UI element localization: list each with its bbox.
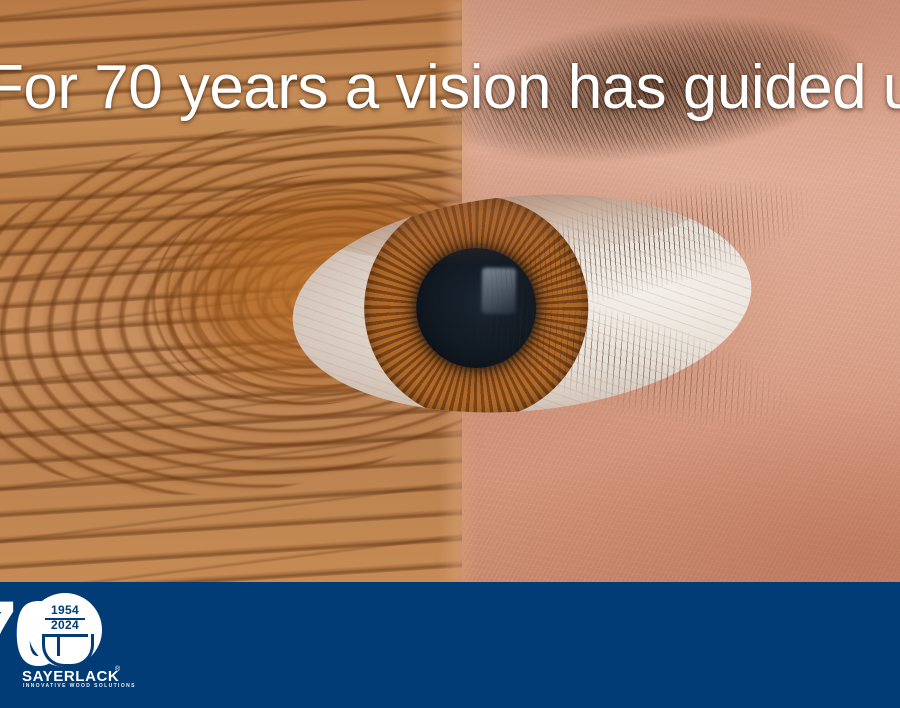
emblem-year-to: 2024 [28, 619, 102, 632]
emblem-year-from: 1954 [28, 604, 102, 617]
sayerlack-circle-emblem-icon: 1954 2024 [28, 593, 102, 667]
hero-image-wood-eye-composite: For 70 years a vision has guided us [0, 0, 900, 582]
sayerlack-anniversary-banner: For 70 years a vision has guided us 70 1… [0, 0, 900, 708]
emblem-mark-stem [57, 634, 60, 656]
headline-text: For 70 years a vision has guided us [0, 48, 900, 128]
headline-container: For 70 years a vision has guided us [0, 48, 900, 128]
sayerlack-logo[interactable]: 70 1954 2024 SAYERLACK ® INNOVATIVE WOOD… [0, 586, 146, 698]
brand-tagline: INNOVATIVE WOOD SOLUTIONS [23, 683, 136, 689]
emblem-mark-bar [42, 634, 88, 637]
bottom-bar: 70 1954 2024 SAYERLACK ® INNOVATIVE WOOD… [0, 582, 900, 708]
emblem-mark-icon [42, 634, 94, 667]
registered-trademark-icon: ® [115, 666, 120, 673]
